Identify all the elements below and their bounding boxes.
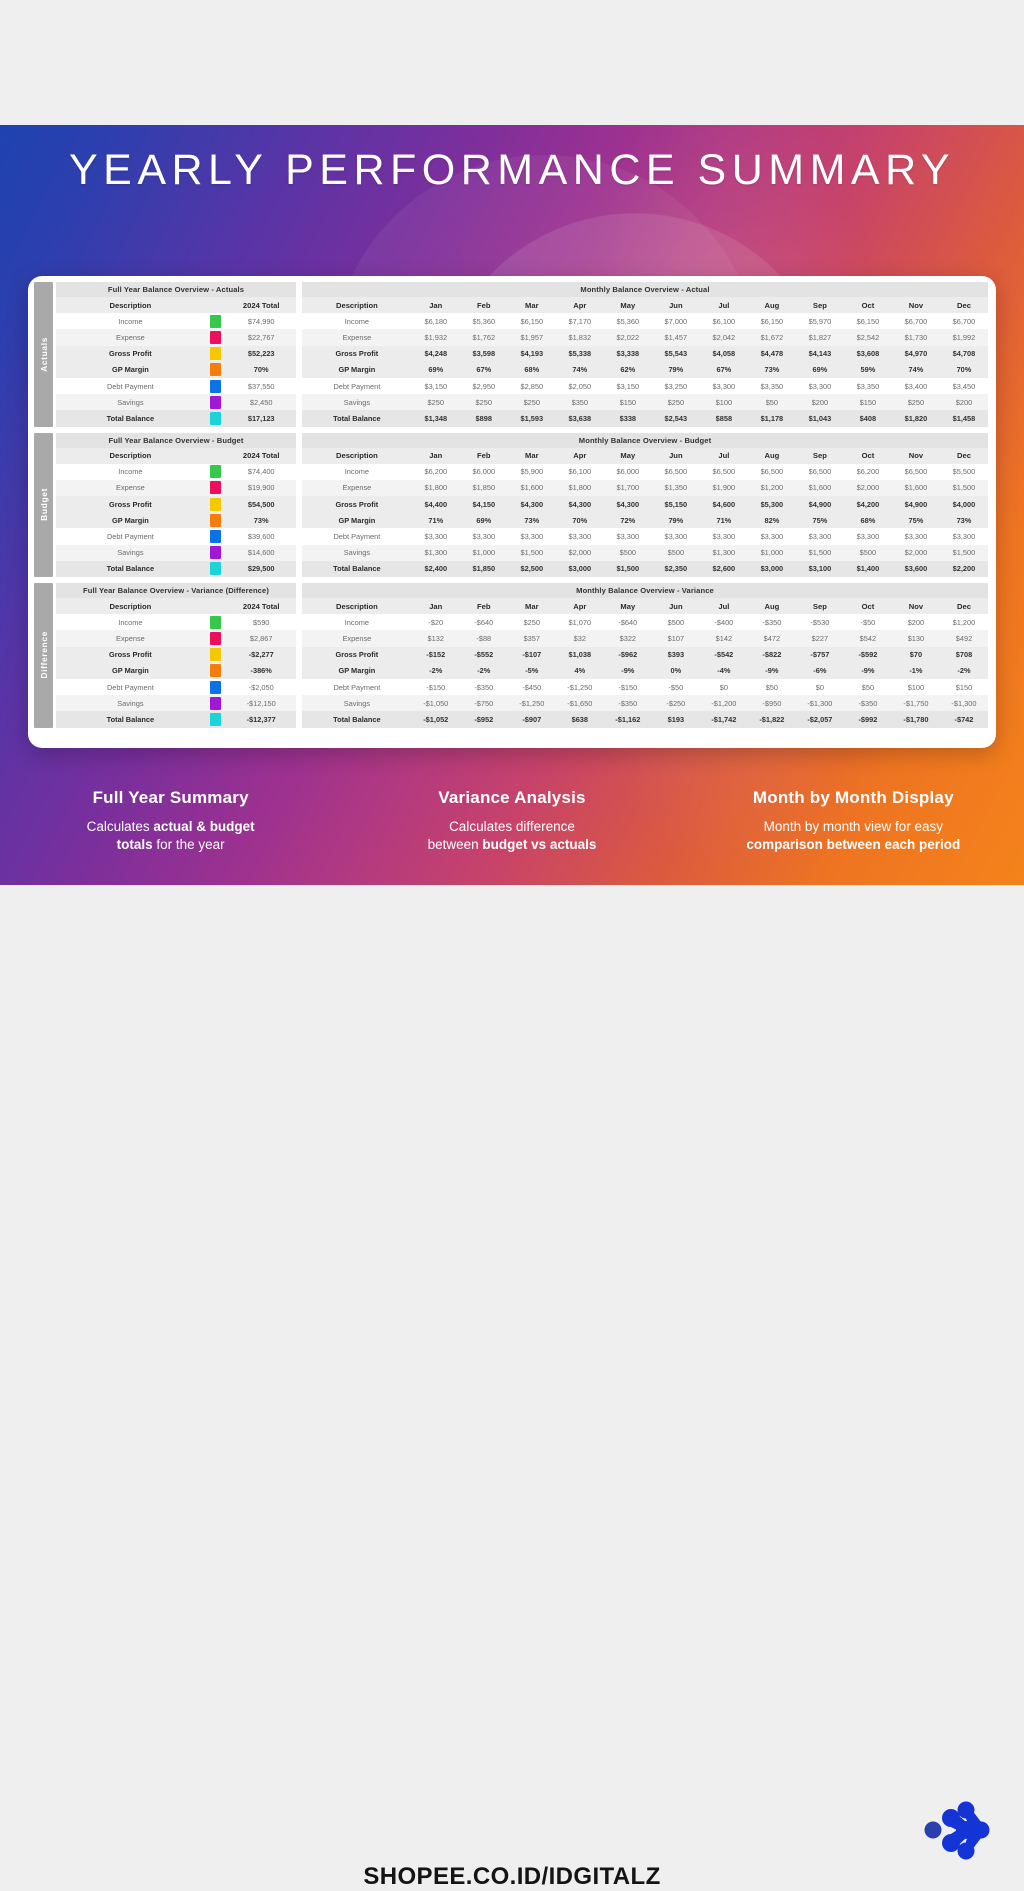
- table-row: Total Balance$1,348$898$1,593$3,638$338$…: [302, 410, 988, 426]
- monthly-cell: -$950: [748, 695, 796, 711]
- row-label: Income: [56, 464, 205, 480]
- monthly-cell: -$992: [844, 711, 892, 727]
- table-row: Expense$132-$88$357$32$322$107$142$472$2…: [302, 630, 988, 646]
- yearly-total-value: $74,990: [226, 313, 296, 329]
- monthly-cell: $3,300: [604, 528, 652, 544]
- monthly-cell: 69%: [412, 362, 460, 378]
- row-label: Debt Payment: [302, 378, 412, 394]
- footer-url: SHOPEE.CO.ID/IDGITALZ: [0, 1863, 1024, 1891]
- row-color-swatch-cell: [205, 679, 227, 695]
- table-row: Expense$19,900: [56, 480, 296, 496]
- yearly-total-value: $19,900: [226, 480, 296, 496]
- row-label: Total Balance: [302, 561, 412, 577]
- feature-line1-plain: Calculates difference: [449, 819, 575, 834]
- monthly-cell: -2%: [412, 663, 460, 679]
- monthly-cell: -$952: [460, 711, 508, 727]
- monthly-cell: $150: [844, 394, 892, 410]
- monthly-cell: $4,193: [508, 346, 556, 362]
- row-label: Debt Payment: [56, 679, 205, 695]
- monthly-cell: $107: [652, 630, 700, 646]
- yearly-total-value: $2,450: [226, 394, 296, 410]
- monthly-cell: $357: [508, 630, 556, 646]
- row-label: Expense: [56, 630, 205, 646]
- row-label: Gross Profit: [302, 496, 412, 512]
- monthly-cell: $4,900: [892, 496, 940, 512]
- month-header-sep: Sep: [796, 598, 844, 614]
- row-label: GP Margin: [56, 362, 205, 378]
- monthly-cell: $1,178: [748, 410, 796, 426]
- monthly-cell: $50: [748, 679, 796, 695]
- table-row: GP Margin73%: [56, 512, 296, 528]
- yearly-total-value: $590: [226, 614, 296, 630]
- monthly-cell: $3,608: [844, 346, 892, 362]
- monthly-cell: 59%: [844, 362, 892, 378]
- table-row: Total Balance$17,123: [56, 410, 296, 426]
- yearly-total-value: -$12,377: [226, 711, 296, 727]
- monthly-cell: -$757: [796, 647, 844, 663]
- monthly-cell: -$907: [508, 711, 556, 727]
- monthly-cell: $1,600: [508, 480, 556, 496]
- yearly-total-value: $54,500: [226, 496, 296, 512]
- month-header-apr: Apr: [556, 598, 604, 614]
- monthly-cell: 69%: [460, 512, 508, 528]
- row-color-swatch-cell: [205, 695, 227, 711]
- section-block: ActualsFull Year Balance Overview - Actu…: [34, 282, 988, 427]
- monthly-cell: 74%: [556, 362, 604, 378]
- yearly-col-total: 2024 Total: [226, 598, 296, 614]
- row-label: Gross Profit: [56, 496, 205, 512]
- month-header-mar: Mar: [508, 598, 556, 614]
- monthly-cell: -9%: [748, 663, 796, 679]
- monthly-cell: $1,457: [652, 329, 700, 345]
- monthly-cell: 79%: [652, 362, 700, 378]
- monthly-cell: $6,500: [796, 464, 844, 480]
- month-header-mar: Mar: [508, 448, 556, 464]
- monthly-cell: $6,500: [892, 464, 940, 480]
- monthly-cell: -$150: [604, 679, 652, 695]
- monthly-cell: -$1,742: [700, 711, 748, 727]
- feature-item: Variance AnalysisCalculates differencebe…: [362, 788, 662, 854]
- yearly-table-title-row: Full Year Balance Overview - Actuals: [56, 282, 296, 297]
- monthly-cell: $2,950: [460, 378, 508, 394]
- feature-item: Month by Month DisplayMonth by month vie…: [703, 788, 1003, 854]
- monthly-cell: $6,100: [556, 464, 604, 480]
- monthly-cell: $3,300: [796, 378, 844, 394]
- monthly-cell: -$250: [652, 695, 700, 711]
- monthly-cell: $4,970: [892, 346, 940, 362]
- monthly-col-description: Description: [302, 598, 412, 614]
- monthly-header-row: DescriptionJanFebMarAprMayJunJulAugSepOc…: [302, 448, 988, 464]
- yearly-total-value: -$2,277: [226, 647, 296, 663]
- monthly-cell: -$20: [412, 614, 460, 630]
- row-color-swatch: [210, 681, 221, 694]
- monthly-cell: $1,850: [460, 480, 508, 496]
- monthly-cell: $6,000: [604, 464, 652, 480]
- section-tables: Full Year Balance Overview - BudgetDescr…: [56, 433, 988, 578]
- monthly-cell: $492: [940, 630, 988, 646]
- row-color-swatch-cell: [205, 329, 227, 345]
- monthly-cell: $1,200: [940, 614, 988, 630]
- table-row: Gross Profit$54,500: [56, 496, 296, 512]
- monthly-cell: $3,300: [412, 528, 460, 544]
- yearly-total-value: $14,600: [226, 545, 296, 561]
- monthly-cell: $250: [412, 394, 460, 410]
- monthly-cell: $1,070: [556, 614, 604, 630]
- table-row: Savings$250$250$250$350$150$250$100$50$2…: [302, 394, 988, 410]
- monthly-table: Monthly Balance Overview - VarianceDescr…: [302, 583, 988, 728]
- row-color-swatch: [210, 465, 221, 478]
- monthly-table: Monthly Balance Overview - BudgetDescrip…: [302, 433, 988, 578]
- monthly-cell: 70%: [940, 362, 988, 378]
- yearly-total-value: $17,123: [226, 410, 296, 426]
- monthly-cell: $1,500: [940, 545, 988, 561]
- row-color-swatch: [210, 363, 221, 376]
- monthly-cell: $50: [844, 679, 892, 695]
- monthly-cell: $1,700: [604, 480, 652, 496]
- row-label: Savings: [56, 545, 205, 561]
- monthly-cell: -5%: [508, 663, 556, 679]
- monthly-cell: $6,500: [748, 464, 796, 480]
- row-color-swatch: [210, 713, 221, 726]
- row-color-swatch: [210, 498, 221, 511]
- feature-description: Calculates actual & budgettotals for the…: [21, 818, 321, 854]
- monthly-cell: $6,500: [700, 464, 748, 480]
- row-color-swatch: [210, 546, 221, 559]
- table-row: GP Margin-386%: [56, 663, 296, 679]
- monthly-cell: $3,300: [700, 378, 748, 394]
- row-label: Total Balance: [56, 711, 205, 727]
- monthly-cell: -$1,162: [604, 711, 652, 727]
- monthly-cell: $4,143: [796, 346, 844, 362]
- yearly-total-value: $39,600: [226, 528, 296, 544]
- yearly-total-value: $37,550: [226, 378, 296, 394]
- monthly-cell: $4,300: [508, 496, 556, 512]
- spreadsheet-blocks: ActualsFull Year Balance Overview - Actu…: [34, 282, 988, 742]
- row-label: Total Balance: [56, 410, 205, 426]
- footer: SHOPEE.CO.ID/IDGITALZ: [0, 885, 1024, 1024]
- yearly-total-value: 73%: [226, 512, 296, 528]
- month-header-aug: Aug: [748, 297, 796, 313]
- row-label: Expense: [302, 630, 412, 646]
- monthly-cell: $1,348: [412, 410, 460, 426]
- monthly-cell: $350: [556, 394, 604, 410]
- table-row: Debt Payment$39,600: [56, 528, 296, 544]
- monthly-cell: $4,708: [940, 346, 988, 362]
- monthly-cell: $4,900: [796, 496, 844, 512]
- monthly-cell: $100: [892, 679, 940, 695]
- monthly-cell: 68%: [844, 512, 892, 528]
- monthly-cell: $3,000: [556, 561, 604, 577]
- monthly-cell: $5,900: [508, 464, 556, 480]
- monthly-cell: $3,300: [748, 528, 796, 544]
- monthly-cell: $1,800: [556, 480, 604, 496]
- feature-line2-bold: comparison between each period: [746, 837, 960, 852]
- monthly-cell: -$350: [748, 614, 796, 630]
- monthly-cell: $2,000: [892, 545, 940, 561]
- row-color-swatch: [210, 514, 221, 527]
- monthly-cell: $500: [844, 545, 892, 561]
- monthly-cell: 82%: [748, 512, 796, 528]
- row-color-swatch: [210, 530, 221, 543]
- month-header-oct: Oct: [844, 448, 892, 464]
- row-label: GP Margin: [302, 512, 412, 528]
- monthly-cell: $1,500: [508, 545, 556, 561]
- yearly-total-value: -$2,050: [226, 679, 296, 695]
- monthly-cell: -$1,250: [556, 679, 604, 695]
- yearly-col-total: 2024 Total: [226, 448, 296, 464]
- monthly-cell: -$1,050: [412, 695, 460, 711]
- monthly-cell: $150: [940, 679, 988, 695]
- monthly-cell: -$1,650: [556, 695, 604, 711]
- monthly-cell: 69%: [796, 362, 844, 378]
- monthly-cell: $130: [892, 630, 940, 646]
- monthly-cell: $6,200: [412, 464, 460, 480]
- chevron-dots-logo-icon: [921, 1800, 993, 1860]
- row-color-swatch-cell: [205, 614, 227, 630]
- monthly-col-description: Description: [302, 448, 412, 464]
- row-label: Gross Profit: [302, 346, 412, 362]
- row-label: Total Balance: [302, 711, 412, 727]
- monthly-col-description: Description: [302, 297, 412, 313]
- monthly-cell: -$962: [604, 647, 652, 663]
- yearly-table: Full Year Balance Overview - BudgetDescr…: [56, 433, 296, 578]
- month-header-aug: Aug: [748, 448, 796, 464]
- spreadsheet-card: ActualsFull Year Balance Overview - Actu…: [28, 276, 996, 748]
- yearly-total-value: $29,500: [226, 561, 296, 577]
- monthly-cell: $250: [460, 394, 508, 410]
- section-block: BudgetFull Year Balance Overview - Budge…: [34, 433, 988, 578]
- table-row: Debt Payment$3,150$2,950$2,850$2,050$3,1…: [302, 378, 988, 394]
- yearly-table: Full Year Balance Overview - Variance (D…: [56, 583, 296, 728]
- row-color-swatch: [210, 616, 221, 629]
- feature-line2-plain: for the year: [153, 837, 225, 852]
- monthly-cell: $4,300: [556, 496, 604, 512]
- monthly-cell: $322: [604, 630, 652, 646]
- monthly-cell: -$1,250: [508, 695, 556, 711]
- monthly-cell: -$1,300: [796, 695, 844, 711]
- monthly-cell: $70: [892, 647, 940, 663]
- monthly-cell: $1,957: [508, 329, 556, 345]
- monthly-cell: $2,000: [556, 545, 604, 561]
- page-title: YEARLY PERFORMANCE SUMMARY: [69, 146, 955, 195]
- monthly-cell: 73%: [508, 512, 556, 528]
- row-color-swatch-cell: [205, 394, 227, 410]
- monthly-cell: $2,200: [940, 561, 988, 577]
- monthly-cell: $4,248: [412, 346, 460, 362]
- feature-line2-bold: totals: [117, 837, 153, 852]
- monthly-cell: 62%: [604, 362, 652, 378]
- row-color-swatch-cell: [205, 647, 227, 663]
- table-row: Savings-$1,050-$750-$1,250-$1,650-$350-$…: [302, 695, 988, 711]
- monthly-cell: $542: [844, 630, 892, 646]
- monthly-cell: $1,827: [796, 329, 844, 345]
- monthly-cell: $3,300: [892, 528, 940, 544]
- table-row: Gross Profit$4,400$4,150$4,300$4,300$4,3…: [302, 496, 988, 512]
- row-label: Savings: [56, 394, 205, 410]
- month-header-nov: Nov: [892, 448, 940, 464]
- monthly-cell: $500: [604, 545, 652, 561]
- row-label: Debt Payment: [302, 528, 412, 544]
- monthly-cell: $2,850: [508, 378, 556, 394]
- monthly-cell: $6,150: [748, 313, 796, 329]
- monthly-cell: $2,543: [652, 410, 700, 426]
- monthly-cell: -$592: [844, 647, 892, 663]
- monthly-cell: $3,450: [940, 378, 988, 394]
- monthly-cell: $708: [940, 647, 988, 663]
- monthly-cell: $200: [892, 614, 940, 630]
- monthly-cell: -2%: [940, 663, 988, 679]
- feature-description: Month by month view for easycomparison b…: [703, 818, 1003, 854]
- month-header-jan: Jan: [412, 297, 460, 313]
- month-header-feb: Feb: [460, 598, 508, 614]
- section-tables: Full Year Balance Overview - Variance (D…: [56, 583, 988, 728]
- table-row: Debt Payment$3,300$3,300$3,300$3,300$3,3…: [302, 528, 988, 544]
- yearly-total-value: 70%: [226, 362, 296, 378]
- section-side-label: Budget: [34, 433, 53, 578]
- row-color-swatch-cell: [205, 663, 227, 679]
- table-row: Total Balance-$12,377: [56, 711, 296, 727]
- month-header-jan: Jan: [412, 448, 460, 464]
- monthly-cell: -$1,750: [892, 695, 940, 711]
- month-header-dec: Dec: [940, 297, 988, 313]
- yearly-table-title-row: Full Year Balance Overview - Variance (D…: [56, 583, 296, 598]
- row-color-swatch-cell: [205, 362, 227, 378]
- monthly-table-title-row: Monthly Balance Overview - Variance: [302, 583, 988, 598]
- table-row: Debt Payment$37,550: [56, 378, 296, 394]
- row-color-swatch: [210, 697, 221, 710]
- row-color-swatch: [210, 562, 221, 575]
- monthly-cell: $250: [508, 614, 556, 630]
- monthly-cell: $4,200: [844, 496, 892, 512]
- monthly-cell: $2,542: [844, 329, 892, 345]
- monthly-cell: $1,730: [892, 329, 940, 345]
- monthly-cell: $1,820: [892, 410, 940, 426]
- monthly-cell: 72%: [604, 512, 652, 528]
- monthly-cell: $5,150: [652, 496, 700, 512]
- row-label: Income: [56, 313, 205, 329]
- feature-description: Calculates differencebetween budget vs a…: [362, 818, 662, 854]
- row-color-swatch: [210, 632, 221, 645]
- row-label: GP Margin: [302, 362, 412, 378]
- monthly-cell: $5,300: [748, 496, 796, 512]
- yearly-total-value: $2,867: [226, 630, 296, 646]
- monthly-cell: $1,200: [748, 480, 796, 496]
- row-color-swatch-cell: [205, 512, 227, 528]
- monthly-cell: -$640: [460, 614, 508, 630]
- monthly-cell: 71%: [700, 512, 748, 528]
- row-label: Debt Payment: [56, 528, 205, 544]
- monthly-cell: $408: [844, 410, 892, 426]
- row-label: Savings: [302, 394, 412, 410]
- yearly-col-swatch: [205, 448, 227, 464]
- monthly-cell: $2,022: [604, 329, 652, 345]
- monthly-cell: $4,150: [460, 496, 508, 512]
- monthly-cell: $6,000: [460, 464, 508, 480]
- monthly-cell: $5,360: [460, 313, 508, 329]
- monthly-cell: -$1,200: [700, 695, 748, 711]
- monthly-cell: $3,300: [796, 528, 844, 544]
- row-color-swatch-cell: [205, 480, 227, 496]
- monthly-cell: $1,043: [796, 410, 844, 426]
- monthly-cell: $858: [700, 410, 748, 426]
- monthly-cell: $3,350: [748, 378, 796, 394]
- monthly-cell: $3,300: [844, 528, 892, 544]
- monthly-cell: $227: [796, 630, 844, 646]
- monthly-cell: $250: [652, 394, 700, 410]
- monthly-cell: 70%: [556, 512, 604, 528]
- monthly-cell: $2,042: [700, 329, 748, 345]
- row-label: Income: [302, 614, 412, 630]
- table-row: Savings$14,600: [56, 545, 296, 561]
- monthly-cell: -$50: [652, 679, 700, 695]
- row-color-swatch-cell: [205, 378, 227, 394]
- section-side-label: Difference: [34, 583, 53, 728]
- monthly-cell: -$88: [460, 630, 508, 646]
- poster-root: IDIGITALZ YEARLY PERFORMANCE SUMMARY Act…: [0, 0, 1024, 1024]
- monthly-cell: $1,762: [460, 329, 508, 345]
- row-label: Debt Payment: [302, 679, 412, 695]
- monthly-cell: -$1,300: [940, 695, 988, 711]
- yearly-col-total: 2024 Total: [226, 297, 296, 313]
- monthly-cell: 73%: [748, 362, 796, 378]
- monthly-cell: $1,850: [460, 561, 508, 577]
- monthly-cell: $3,300: [652, 528, 700, 544]
- monthly-cell: $6,700: [892, 313, 940, 329]
- title-bar: YEARLY PERFORMANCE SUMMARY: [0, 125, 1024, 215]
- row-label: Income: [56, 614, 205, 630]
- month-header-nov: Nov: [892, 598, 940, 614]
- month-header-apr: Apr: [556, 297, 604, 313]
- row-color-swatch: [210, 648, 221, 661]
- monthly-cell: -$742: [940, 711, 988, 727]
- monthly-cell: $4,000: [940, 496, 988, 512]
- monthly-cell: $1,038: [556, 647, 604, 663]
- monthly-cell: $3,150: [412, 378, 460, 394]
- row-color-swatch-cell: [205, 464, 227, 480]
- monthly-cell: 75%: [796, 512, 844, 528]
- monthly-cell: $2,350: [652, 561, 700, 577]
- monthly-cell: $3,300: [700, 528, 748, 544]
- monthly-cell: $150: [604, 394, 652, 410]
- monthly-cell: $5,338: [556, 346, 604, 362]
- monthly-cell: $142: [700, 630, 748, 646]
- monthly-cell: $1,300: [700, 545, 748, 561]
- row-color-swatch: [210, 331, 221, 344]
- monthly-cell: $472: [748, 630, 796, 646]
- monthly-cell: $1,832: [556, 329, 604, 345]
- monthly-cell: $4,058: [700, 346, 748, 362]
- yearly-header-row: Description2024 Total: [56, 448, 296, 464]
- monthly-cell: -9%: [604, 663, 652, 679]
- monthly-cell: $1,000: [748, 545, 796, 561]
- month-header-sep: Sep: [796, 448, 844, 464]
- monthly-cell: 74%: [892, 362, 940, 378]
- monthly-cell: 67%: [700, 362, 748, 378]
- row-label: Expense: [302, 329, 412, 345]
- monthly-table-title-row: Monthly Balance Overview - Actual: [302, 282, 988, 297]
- table-row: Debt Payment-$2,050: [56, 679, 296, 695]
- monthly-cell: $3,338: [604, 346, 652, 362]
- monthly-cell: $3,598: [460, 346, 508, 362]
- row-color-swatch: [210, 412, 221, 425]
- monthly-table-title: Monthly Balance Overview - Actual: [302, 282, 988, 297]
- monthly-cell: $32: [556, 630, 604, 646]
- monthly-cell: 67%: [460, 362, 508, 378]
- monthly-cell: $4,300: [604, 496, 652, 512]
- monthly-cell: $500: [652, 614, 700, 630]
- yearly-table-title: Full Year Balance Overview - Variance (D…: [56, 583, 296, 598]
- monthly-cell: $1,992: [940, 329, 988, 345]
